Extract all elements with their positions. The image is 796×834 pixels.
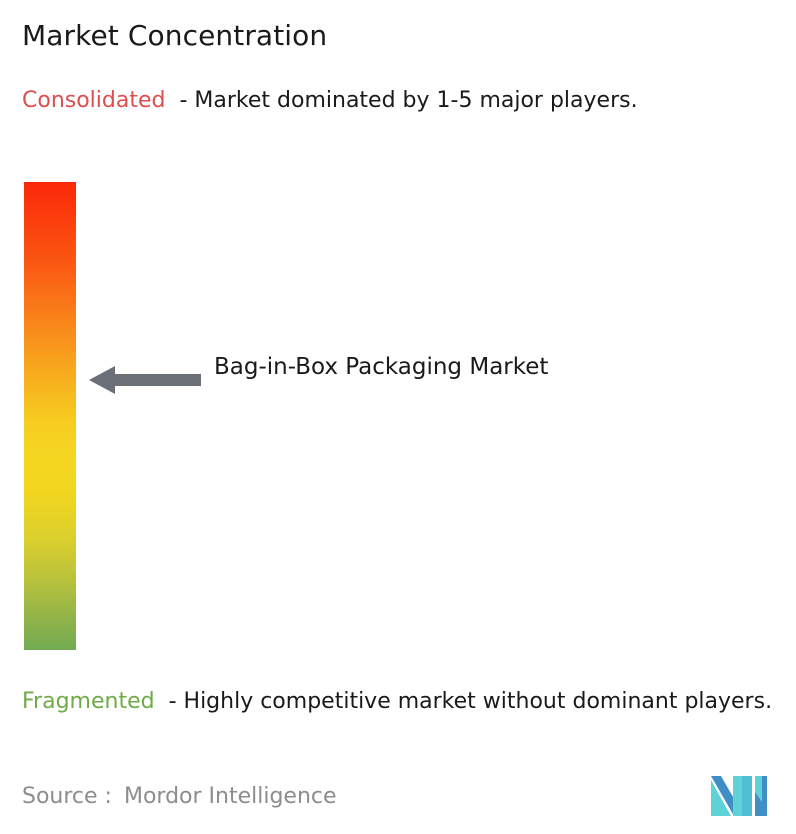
callout-market-label: Bag-in-Box Packaging Market (214, 350, 634, 384)
page-title: Market Concentration (22, 18, 327, 54)
legend-fragmented-description: - Highly competitive market without domi… (169, 689, 772, 714)
legend-fragmented: Fragmented - Highly competitive market w… (22, 686, 784, 718)
concentration-gradient-bar (24, 182, 76, 650)
legend-consolidated: Consolidated - Market dominated by 1-5 m… (22, 85, 762, 117)
source-value: Mordor Intelligence (124, 784, 337, 809)
legend-fragmented-keyword: Fragmented (22, 689, 155, 714)
legend-consolidated-description: - Market dominated by 1-5 major players. (179, 88, 637, 113)
source-label: Source : (22, 784, 112, 809)
legend-consolidated-keyword: Consolidated (22, 88, 165, 113)
mordor-intelligence-logo-icon (709, 772, 771, 820)
callout-arrow-left-icon (89, 363, 201, 397)
source-attribution: Source : Mordor Intelligence (22, 782, 337, 812)
market-concentration-figure: Market Concentration Consolidated - Mark… (0, 0, 796, 834)
